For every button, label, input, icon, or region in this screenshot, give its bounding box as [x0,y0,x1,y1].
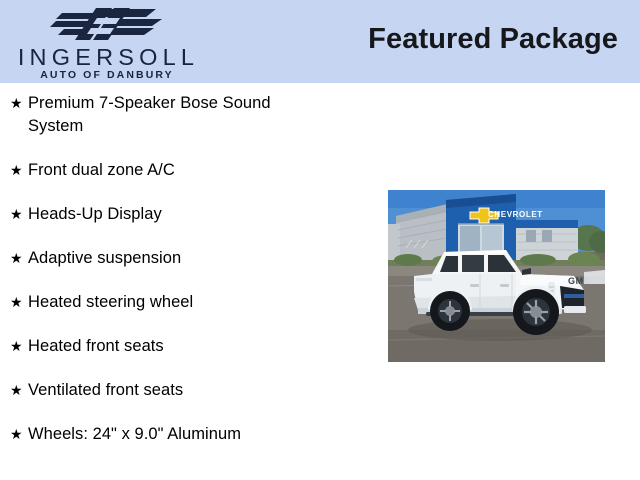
star-bullet-icon: ★ [10,379,28,402]
star-bullet-icon: ★ [10,159,28,182]
page-title: Featured Package [368,22,618,57]
star-bullet-icon: ★ [10,423,28,446]
star-bullet-icon: ★ [10,92,28,115]
feature-label: Heated steering wheel [28,291,360,314]
vehicle-photo: CHEVROLET [388,190,605,362]
featured-package-list: ★ Premium 7-Speaker Bose Sound System ★ … [0,92,360,467]
list-item: ★ Heated front seats [0,335,360,358]
feature-label: Premium 7-Speaker Bose Sound System [28,92,360,138]
list-item: ★ Wheels: 24" x 9.0" Aluminum [0,423,360,446]
header-band: INGERSOLL AUTO OF DANBURY Featured Packa… [0,0,640,83]
star-bullet-icon: ★ [10,291,28,314]
star-bullet-icon: ★ [10,203,28,226]
ingersoll-winged-emblem-icon [50,6,162,42]
svg-text:CHEVROLET: CHEVROLET [488,210,543,219]
feature-label: Wheels: 24" x 9.0" Aluminum [28,423,360,446]
list-item: ★ Adaptive suspension [0,247,360,270]
list-item: ★ Premium 7-Speaker Bose Sound System [0,92,360,138]
feature-label: Ventilated front seats [28,379,360,402]
list-item: ★ Heated steering wheel [0,291,360,314]
feature-label: Front dual zone A/C [28,159,360,182]
dealer-logo: INGERSOLL AUTO OF DANBURY [6,2,206,82]
list-item: ★ Heads-Up Display [0,203,360,226]
star-bullet-icon: ★ [10,335,28,358]
list-item: ★ Front dual zone A/C [0,159,360,182]
feature-label: Adaptive suspension [28,247,360,270]
list-item: ★ Ventilated front seats [0,379,360,402]
dealer-brand-tagline: AUTO OF DANBURY [6,70,206,81]
star-bullet-icon: ★ [10,247,28,270]
dealer-brand-name: INGERSOLL [6,46,206,70]
feature-label: Heated front seats [28,335,360,358]
feature-label: Heads-Up Display [28,203,360,226]
